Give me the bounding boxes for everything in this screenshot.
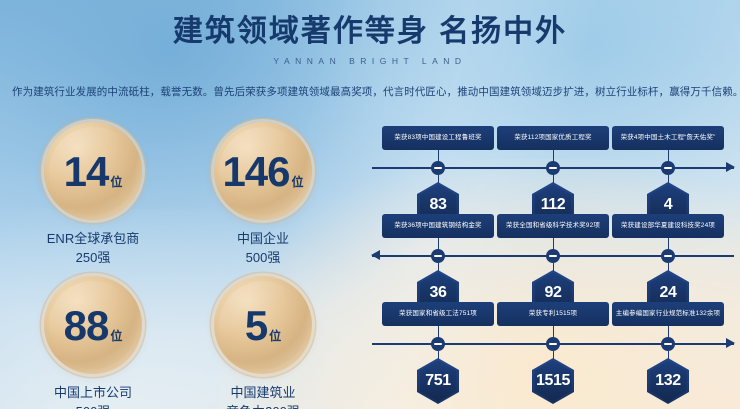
stat-caption-line2: 250强 bbox=[8, 249, 178, 268]
timeline-item[interactable]: 荣获83项中国建设工程鲁班奖 83 bbox=[382, 126, 494, 150]
stat-unit: 位 bbox=[269, 330, 281, 342]
timeline-node-icon bbox=[431, 249, 445, 263]
page-title: 建筑领域著作等身 名扬中外 bbox=[0, 14, 740, 51]
arrow-left-icon bbox=[371, 250, 380, 260]
awards-timeline-panel: 荣获83项中国建设工程鲁班奖 83 荣获112项国家优质工程奖 112 bbox=[372, 126, 734, 404]
award-label: 荣获建设部华夏建设科技奖24项 bbox=[612, 214, 724, 238]
timeline-node-icon bbox=[431, 337, 445, 351]
award-count: 4 bbox=[664, 197, 673, 213]
timeline-node-icon bbox=[546, 337, 560, 351]
timeline-node-icon bbox=[661, 249, 675, 263]
award-count-badge: 132 bbox=[647, 358, 689, 404]
stat-caption: 中国上市公司 500强 bbox=[8, 384, 178, 409]
stat-unit: 位 bbox=[110, 176, 122, 188]
lead-paragraph: 作为建筑行业发展的中流砥柱，载誉无数。曾先后荣获多项建筑领域最高奖项，代言时代匠… bbox=[12, 84, 728, 99]
award-count: 112 bbox=[541, 197, 566, 213]
award-count: 132 bbox=[655, 373, 681, 389]
timeline-item[interactable]: 荣获4项中国土木工程“詹天佑奖” 4 bbox=[612, 126, 724, 150]
stat-caption-line1: 中国建筑业 bbox=[230, 385, 295, 400]
timeline-item[interactable]: 荣获112项国家优质工程奖 112 bbox=[497, 126, 609, 150]
award-count: 92 bbox=[545, 285, 562, 301]
stat-value-group: 5 位 bbox=[245, 305, 281, 347]
stat-caption: 中国企业 500强 bbox=[178, 230, 348, 268]
brand-subtitle: YANNAN BRIGHT LAND bbox=[0, 56, 740, 66]
timeline-row: 荣获83项中国建设工程鲁班奖 83 荣获112项国家优质工程奖 112 bbox=[372, 126, 734, 214]
stat-caption-line2: 竞争力200强 bbox=[178, 403, 348, 409]
award-label: 荣获4项中国土木工程“詹天佑奖” bbox=[612, 126, 724, 150]
stat-number: 5 bbox=[245, 305, 267, 347]
stat-unit: 位 bbox=[292, 176, 304, 188]
timeline-node-icon bbox=[661, 337, 675, 351]
award-label: 荣获全国和省级科学技术奖92项 bbox=[497, 214, 609, 238]
stat-number: 146 bbox=[222, 151, 289, 193]
timeline-node-icon bbox=[431, 161, 445, 175]
promo-banner: 建筑领域著作等身 名扬中外 YANNAN BRIGHT LAND 作为建筑行业发… bbox=[0, 0, 740, 409]
award-label: 荣获国家和省级工法751项 bbox=[382, 302, 494, 326]
timeline-row: 荣获国家和省级工法751项 751 荣获专利1515项 1515 bbox=[372, 302, 734, 390]
award-count: 83 bbox=[430, 197, 447, 213]
award-label: 主编参编国家行业规范标准132余项 bbox=[612, 302, 724, 326]
stat-medallion: 88 位 bbox=[44, 276, 142, 374]
stat-number: 88 bbox=[64, 305, 109, 347]
stat-card: 5 位 中国建筑业 竞争力200强 bbox=[178, 276, 348, 409]
timeline-item[interactable]: 荣获国家和省级工法751项 751 bbox=[382, 302, 494, 326]
timeline-item[interactable]: 主编参编国家行业规范标准132余项 132 bbox=[612, 302, 724, 326]
timeline-row: 荣获36项中国建筑钢结构金奖 36 荣获全国和省级科学技术奖92项 92 bbox=[372, 214, 734, 302]
banner-header: 建筑领域著作等身 名扬中外 YANNAN BRIGHT LAND bbox=[0, 14, 740, 66]
stat-medallion: 14 位 bbox=[44, 122, 142, 220]
stat-caption-line1: ENR全球承包商 bbox=[47, 231, 139, 246]
stat-value-group: 88 位 bbox=[64, 305, 123, 347]
award-count: 24 bbox=[660, 285, 677, 301]
stat-number: 14 bbox=[64, 151, 109, 193]
award-count-badge: 1515 bbox=[532, 358, 574, 404]
stat-unit: 位 bbox=[110, 330, 122, 342]
arrow-right-icon bbox=[726, 162, 735, 172]
timeline-node-icon bbox=[661, 161, 675, 175]
statistics-panel: 14 位 ENR全球承包商 250强 146 位 中国企业 500强 bbox=[8, 122, 348, 409]
stat-caption-line2: 500强 bbox=[178, 249, 348, 268]
award-count-badge: 751 bbox=[417, 358, 459, 404]
timeline-item[interactable]: 荣获全国和省级科学技术奖92项 92 bbox=[497, 214, 609, 238]
award-count: 751 bbox=[425, 373, 451, 389]
stat-medallion: 5 位 bbox=[214, 276, 312, 374]
award-label: 荣获专利1515项 bbox=[497, 302, 609, 326]
stat-caption: ENR全球承包商 250强 bbox=[8, 230, 178, 268]
award-count: 1515 bbox=[536, 373, 570, 389]
stat-medallion: 146 位 bbox=[214, 122, 312, 220]
timeline-item[interactable]: 荣获建设部华夏建设科技奖24项 24 bbox=[612, 214, 724, 238]
stat-caption-line1: 中国企业 bbox=[237, 231, 289, 246]
arrow-right-icon bbox=[726, 338, 735, 348]
award-label: 荣获36项中国建筑钢结构金奖 bbox=[382, 214, 494, 238]
stat-caption-line1: 中国上市公司 bbox=[54, 385, 132, 400]
timeline-item[interactable]: 荣获36项中国建筑钢结构金奖 36 bbox=[382, 214, 494, 238]
stat-caption-line2: 500强 bbox=[8, 403, 178, 409]
stat-card: 88 位 中国上市公司 500强 bbox=[8, 276, 178, 409]
stat-card: 146 位 中国企业 500强 bbox=[178, 122, 348, 268]
award-count: 36 bbox=[430, 285, 447, 301]
award-label: 荣获112项国家优质工程奖 bbox=[497, 126, 609, 150]
timeline-node-icon bbox=[546, 249, 560, 263]
timeline-node-icon bbox=[546, 161, 560, 175]
stat-value-group: 14 位 bbox=[64, 151, 123, 193]
timeline-item[interactable]: 荣获专利1515项 1515 bbox=[497, 302, 609, 326]
stat-caption: 中国建筑业 竞争力200强 bbox=[178, 384, 348, 409]
stat-value-group: 146 位 bbox=[222, 151, 303, 193]
award-label: 荣获83项中国建设工程鲁班奖 bbox=[382, 126, 494, 150]
stat-card: 14 位 ENR全球承包商 250强 bbox=[8, 122, 178, 268]
